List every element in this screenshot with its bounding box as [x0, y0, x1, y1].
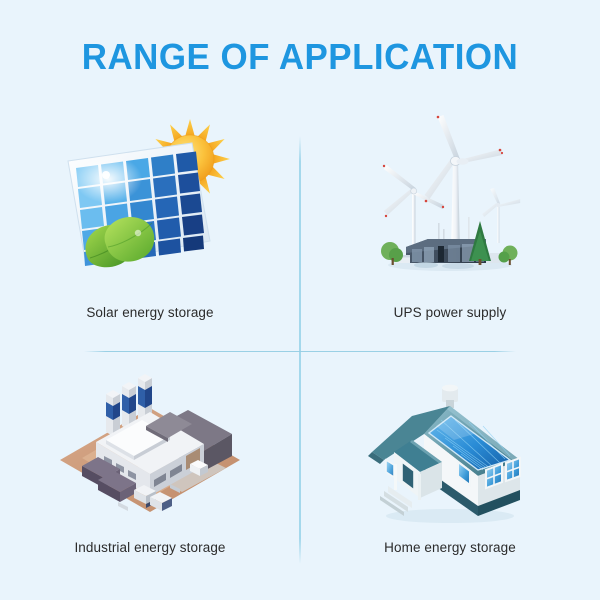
house-with-rooftop-solar-icon	[350, 364, 550, 534]
application-range-page: RANGE OF APPLICATION	[0, 0, 600, 600]
application-label-ups: UPS power supply	[300, 305, 600, 320]
solar-panel-sun-leaf-icon	[50, 113, 250, 283]
application-label-industrial: Industrial energy storage	[0, 540, 300, 555]
page-title: RANGE OF APPLICATION	[9, 36, 591, 78]
application-card-home[interactable]: Home energy storage	[300, 352, 600, 597]
application-card-solar[interactable]: Solar energy storage	[0, 105, 300, 350]
application-card-ups[interactable]: UPS power supply	[300, 105, 600, 350]
application-card-industrial[interactable]: Industrial energy storage	[0, 352, 300, 597]
application-label-home: Home energy storage	[300, 540, 600, 555]
application-label-solar: Solar energy storage	[0, 305, 300, 320]
wind-turbine-farm-icon	[350, 113, 550, 283]
isometric-factory-icon	[50, 364, 250, 534]
